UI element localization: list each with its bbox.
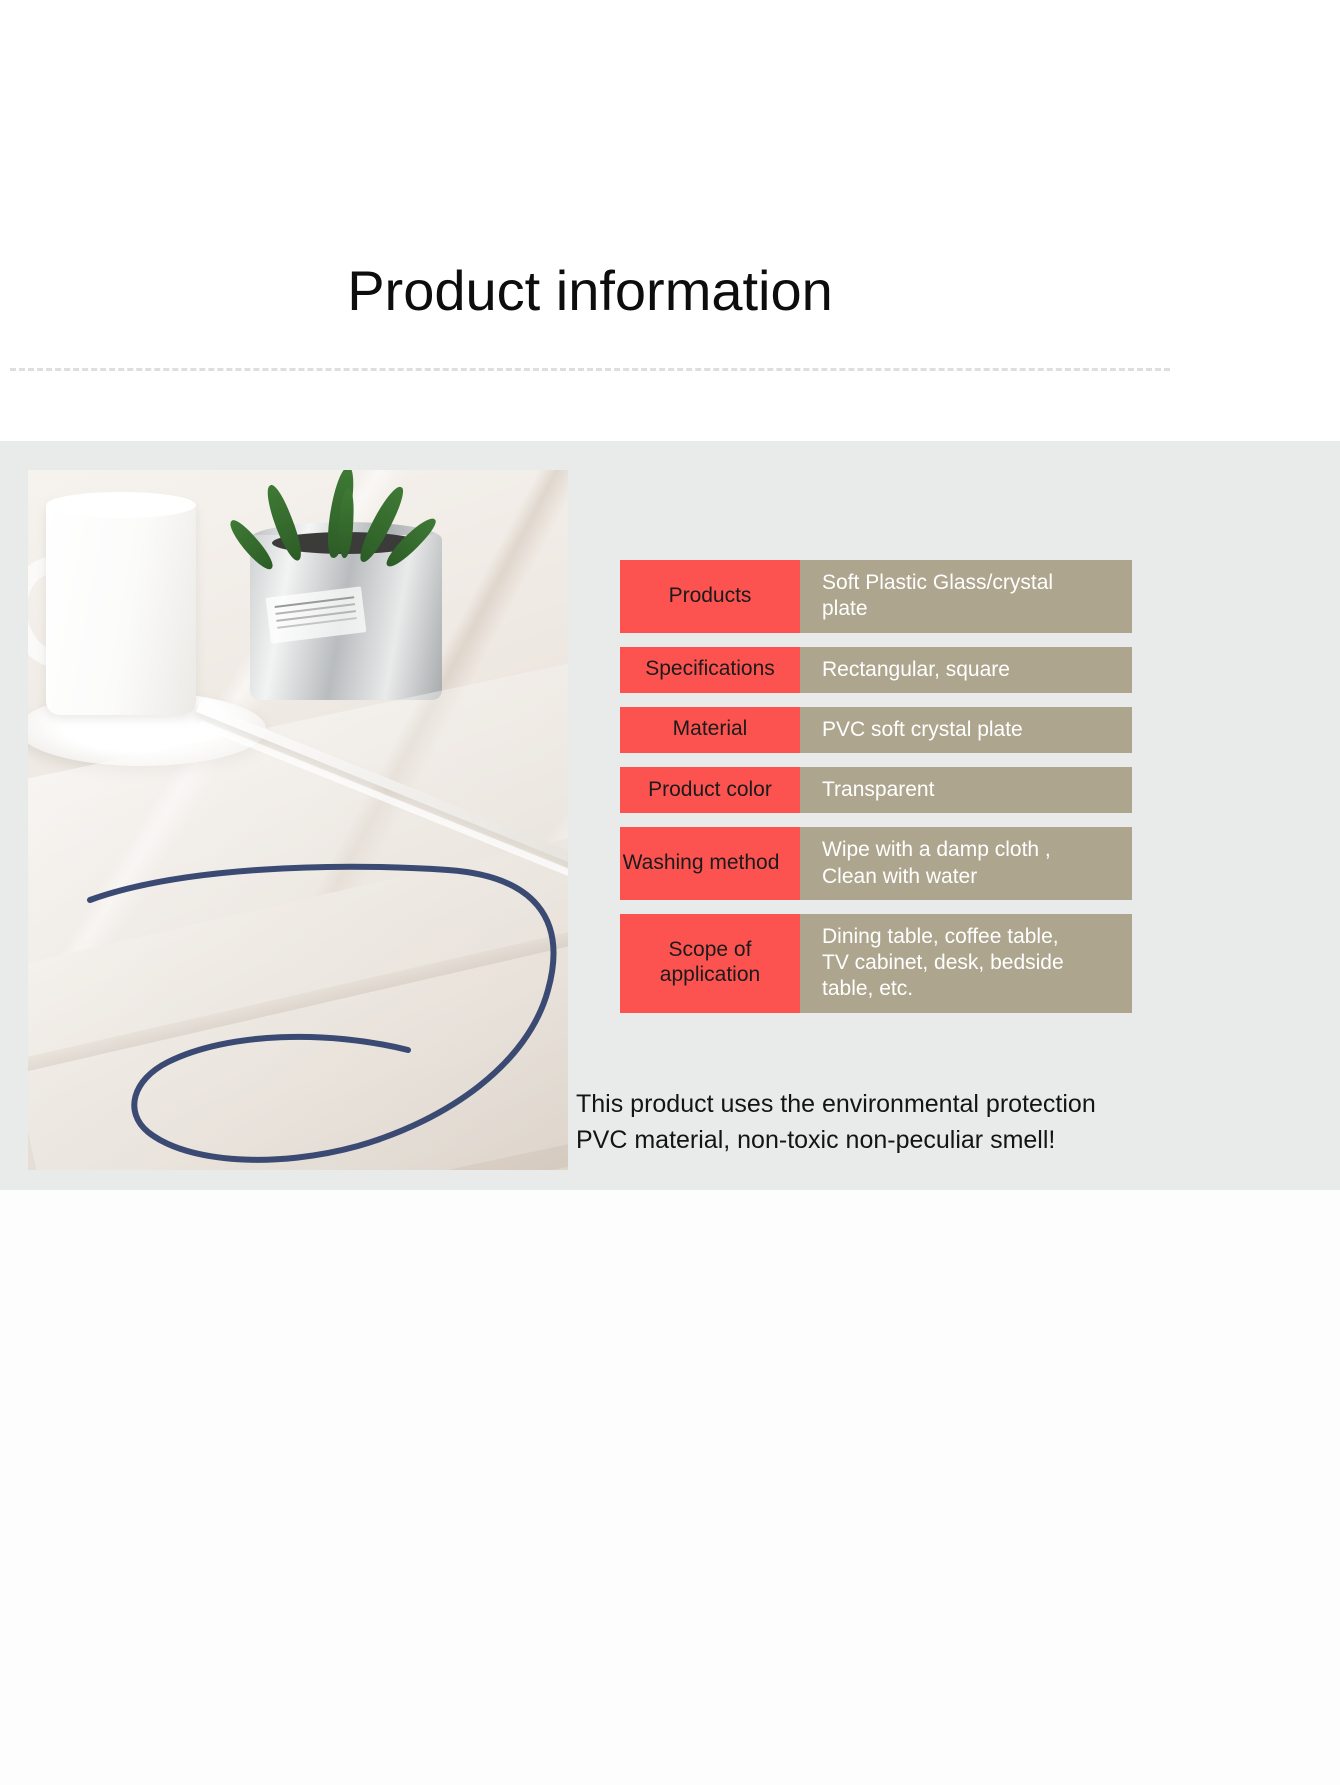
title-divider-bars [0, 362, 1180, 378]
spec-value-specifications: Rectangular, square [800, 647, 1132, 693]
table-row: Scope of application Dining table, coffe… [620, 914, 1132, 1013]
spec-label-material: Material [620, 707, 800, 753]
spec-label-products: Products [620, 560, 800, 633]
spec-label-text: Specifications [645, 657, 775, 682]
table-row: Specifications Rectangular, square [620, 647, 1132, 693]
spec-label-text: Products [669, 584, 752, 609]
page-title: Product information [0, 262, 1180, 321]
spec-value-products: Soft Plastic Glass/crystal plate [800, 560, 1132, 633]
spec-value-product-color: Transparent [800, 767, 1132, 813]
spec-label-specifications: Specifications [620, 647, 800, 693]
spec-label-product-color: Product color [620, 767, 800, 813]
product-information-page: Product information [0, 0, 1340, 1785]
spec-table: Products Soft Plastic Glass/crystal plat… [620, 560, 1132, 1027]
table-row: Washing method Wipe with a damp cloth , … [620, 827, 1132, 900]
spec-label-text: Material [673, 717, 748, 742]
table-row: Products Soft Plastic Glass/crystal plat… [620, 560, 1132, 633]
page-header: Product information [0, 0, 1340, 505]
table-row: Material PVC soft crystal plate [620, 707, 1132, 753]
spec-label-text: Scope of application [660, 938, 760, 988]
photo-mat-outline-icon [28, 470, 568, 1170]
product-photo [28, 470, 568, 1170]
table-row: Product color Transparent [620, 767, 1132, 813]
spec-value-washing-method: Wipe with a damp cloth , Clean with wate… [800, 827, 1132, 900]
spec-label-text: Product color [648, 778, 772, 803]
spec-label-washing-method: Washing method [620, 827, 800, 900]
spec-label-scope-of-application: Scope of application [620, 914, 800, 1013]
spec-label-text: Washing method [604, 851, 798, 876]
spec-value-material: PVC soft crystal plate [800, 707, 1132, 753]
spec-value-scope-of-application: Dining table, coffee table, TV cabinet, … [800, 914, 1132, 1013]
footer-note: This product uses the environmental prot… [576, 1086, 1340, 1159]
